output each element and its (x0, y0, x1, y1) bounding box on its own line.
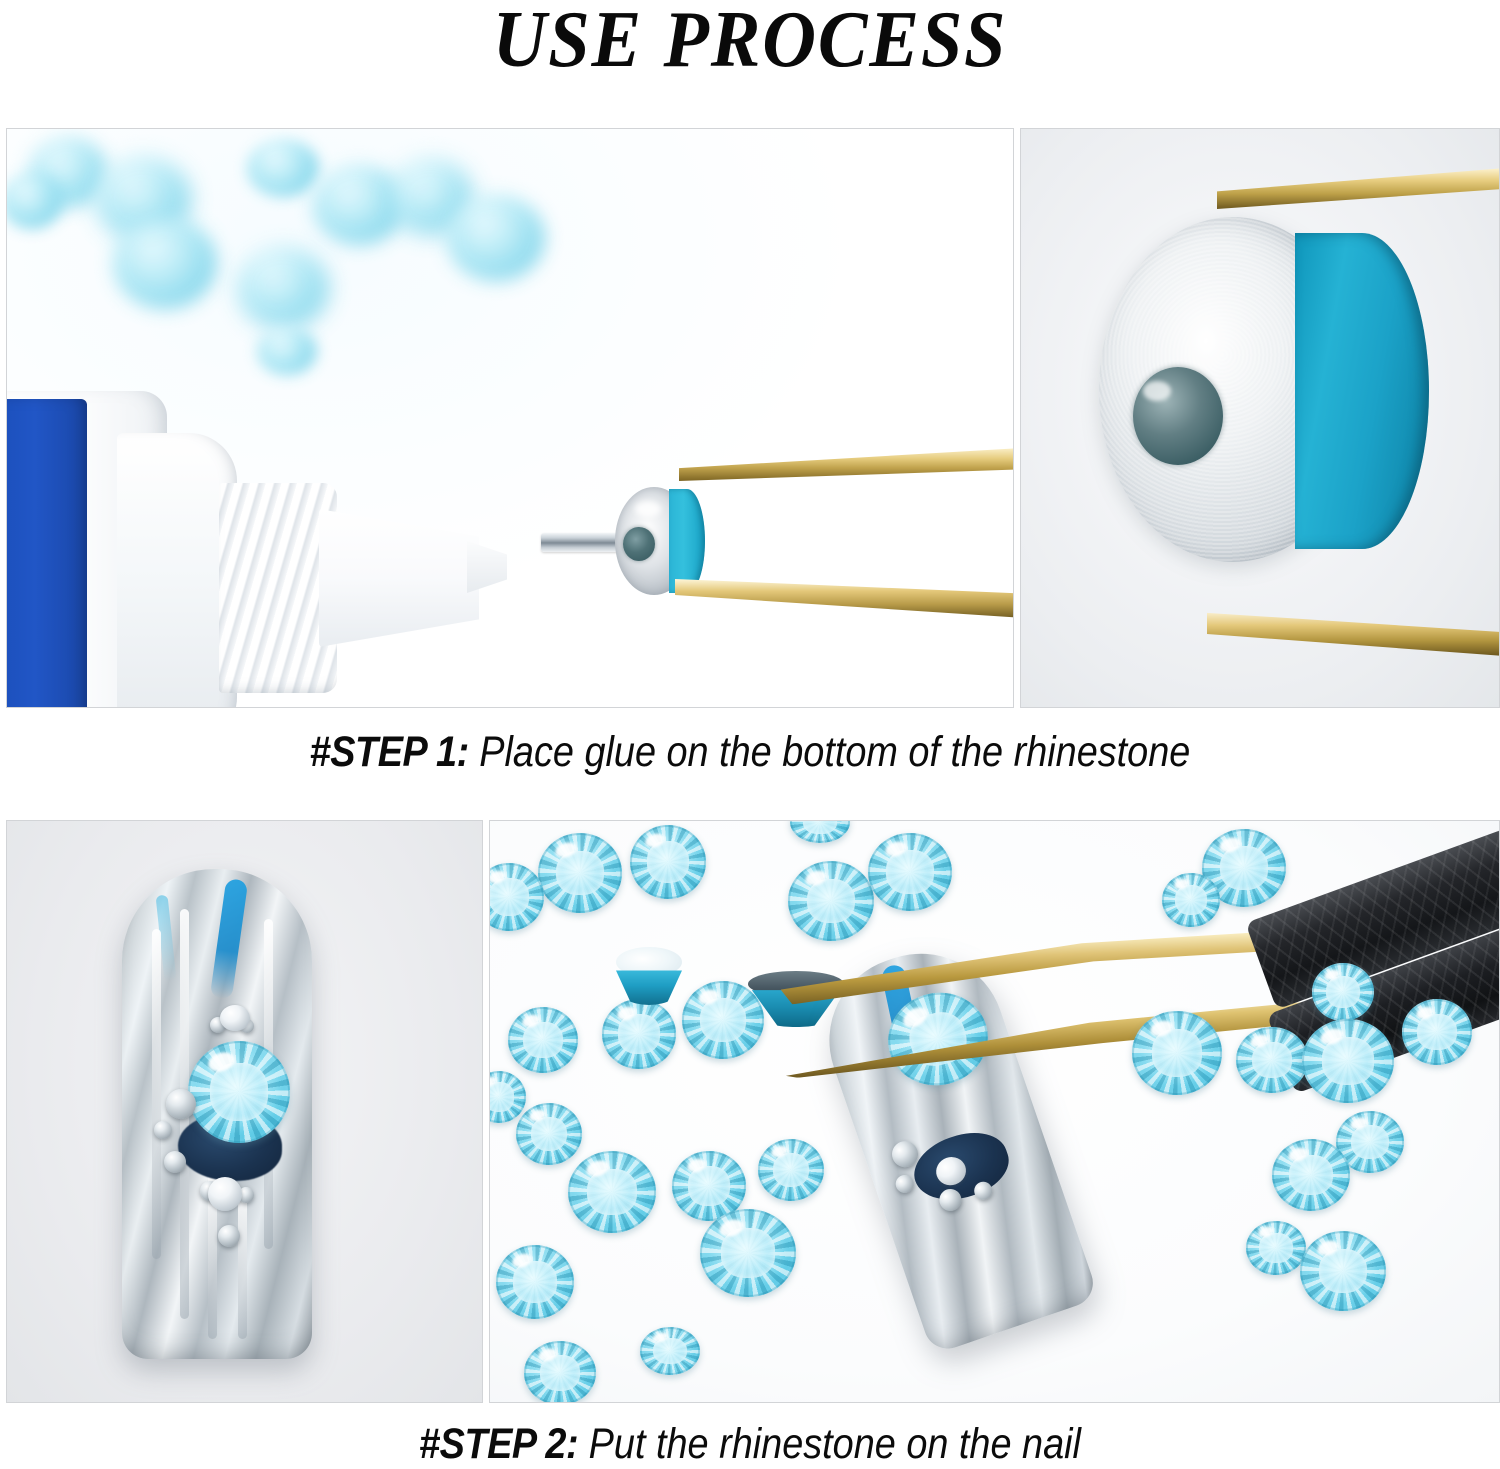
rhinestone-highlight (635, 501, 661, 517)
page-title: USE PROCESS (53, 0, 1448, 86)
glue-drop (623, 527, 655, 561)
rhinestone (188, 1041, 290, 1143)
step-2-caption: #STEP 2: Put the rhinestone on the nail (90, 1420, 1410, 1469)
step-1-photo-row (6, 128, 1500, 708)
blurred-rhinestone (257, 327, 317, 375)
blurred-rhinestone (247, 139, 319, 197)
rhinestone (1300, 1231, 1386, 1311)
tweezers (780, 820, 1500, 1141)
step-1-label: #STEP 1: (310, 728, 469, 776)
rhinestone (758, 1139, 824, 1201)
rhinestone-rim (188, 1041, 290, 1143)
nail-chrome-drip (238, 1189, 247, 1339)
rhinestone (1402, 999, 1472, 1065)
rhinestone (1302, 1019, 1394, 1103)
rhinestone-flipped (616, 947, 682, 1005)
step-2-label: #STEP 2: (419, 1420, 578, 1468)
glue-applied-to-rhinestone-photo (6, 128, 1014, 708)
rhinestone (700, 1209, 796, 1297)
rhinestone (602, 999, 676, 1069)
nail-silver-bead (218, 1225, 240, 1247)
finished-nail-photo (6, 820, 483, 1403)
nail-blue-accent (210, 878, 248, 1000)
rhinestone-side-view (615, 487, 705, 595)
rhinestone-side-facets (616, 967, 682, 1005)
step-2-photo-row (6, 820, 1500, 1403)
glue-bottle-blue-label (6, 399, 87, 708)
nail-chrome-drip (152, 929, 161, 1259)
glue-drop (1133, 367, 1223, 465)
rhinestone (1162, 873, 1220, 927)
rhinestone (516, 1103, 582, 1165)
nail-silver-bead (164, 1151, 186, 1173)
glue-bottle (6, 391, 297, 708)
nail-clear-crystal (220, 1005, 250, 1031)
applying-rhinestone-photo (489, 820, 1500, 1403)
step-1-caption: #STEP 1: Place glue on the bottom of the… (90, 728, 1410, 777)
rhinestone (1236, 1027, 1308, 1093)
nail-silver-bead (166, 1089, 196, 1119)
step-1-text: Place glue on the bottom of the rhinesto… (469, 728, 1191, 776)
blurred-rhinestone (113, 217, 217, 309)
decorated-nail (122, 869, 312, 1359)
glue-drop-highlight (1143, 381, 1171, 401)
infographic-page: USE PROCESS (0, 0, 1500, 1466)
rhinestone (1312, 963, 1374, 1021)
rhinestone-macro (1099, 217, 1429, 562)
rhinestone (496, 1245, 574, 1319)
blurred-rhinestone (447, 195, 545, 281)
rhinestone (640, 1327, 700, 1375)
rhinestone (524, 1341, 596, 1403)
rhinestone (1246, 1221, 1306, 1275)
nail-clear-crystal (208, 1177, 242, 1211)
rhinestone (568, 1151, 656, 1233)
rhinestone (630, 825, 706, 899)
nail-silver-bead (154, 1121, 172, 1139)
rhinestone (1132, 1011, 1222, 1095)
rhinestone-glue-closeup-photo (1020, 128, 1500, 708)
step-2-text: Put the rhinestone on the nail (578, 1420, 1081, 1468)
rhinestone (508, 1007, 578, 1073)
rhinestone (1272, 1139, 1350, 1211)
rhinestone-aqua-edge (1295, 233, 1429, 549)
nail-center-rhinestone (188, 1041, 290, 1143)
rhinestone-aqua-edge (669, 489, 705, 593)
rhinestone (538, 833, 622, 913)
blurred-rhinestone (237, 247, 329, 329)
